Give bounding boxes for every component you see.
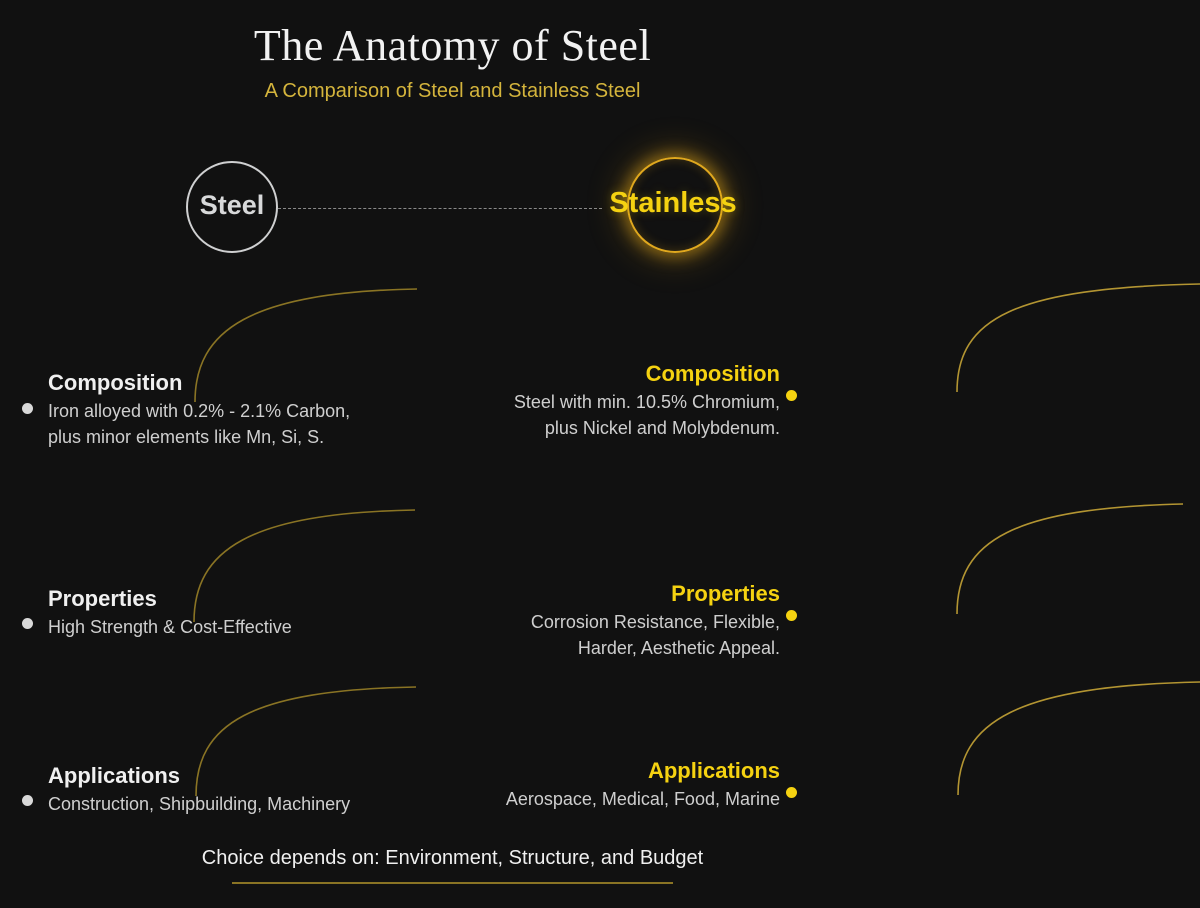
row-bullet-right-icon (786, 787, 797, 798)
stainless-node-label: Stainless (573, 187, 773, 220)
row-right-cell: Properties Corrosion Resistance, Flexibl… (420, 582, 780, 661)
page-subtitle: A Comparison of Steel and Stainless Stee… (0, 80, 905, 103)
row-bullet-left-icon (22, 795, 33, 806)
page-title: The Anatomy of Steel (0, 20, 905, 71)
row-left-cell: Applications Construction, Shipbuilding,… (48, 764, 408, 817)
footer-divider (232, 882, 673, 884)
row-left-heading: Applications (48, 764, 408, 787)
row-right-body: Corrosion Resistance, Flexible, Harder, … (420, 609, 780, 661)
row-left-body: Iron alloyed with 0.2% - 2.1% Carbon, pl… (48, 398, 408, 450)
row-left-cell: Properties High Strength & Cost-Effectiv… (48, 587, 408, 640)
row-bullet-right-icon (786, 610, 797, 621)
comparison-row: Properties High Strength & Cost-Effectiv… (0, 585, 1200, 705)
row-right-heading: Composition (420, 362, 780, 385)
row-bullet-left-icon (22, 618, 33, 629)
row-left-heading: Properties (48, 587, 408, 610)
row-left-body: Construction, Shipbuilding, Machinery (48, 791, 408, 817)
comparison-row: Composition Iron alloyed with 0.2% - 2.1… (0, 365, 1200, 485)
row-right-body: Aerospace, Medical, Food, Marine (420, 786, 780, 812)
row-left-heading: Composition (48, 371, 408, 394)
row-right-body: Steel with min. 10.5% Chromium, plus Nic… (420, 389, 780, 441)
infographic-canvas: The Anatomy of Steel A Comparison of Ste… (0, 0, 1200, 908)
row-right-cell: Composition Steel with min. 10.5% Chromi… (420, 362, 780, 441)
row-right-heading: Properties (420, 582, 780, 605)
steel-node-label: Steel (132, 190, 332, 221)
node-connector-line (278, 208, 602, 209)
row-left-body: High Strength & Cost-Effective (48, 614, 408, 640)
row-right-heading: Applications (420, 759, 780, 782)
row-right-cell: Applications Aerospace, Medical, Food, M… (420, 759, 780, 812)
row-bullet-left-icon (22, 403, 33, 414)
footer-note: Choice depends on: Environment, Structur… (0, 847, 905, 870)
row-bullet-right-icon (786, 390, 797, 401)
row-left-cell: Composition Iron alloyed with 0.2% - 2.1… (48, 371, 408, 450)
